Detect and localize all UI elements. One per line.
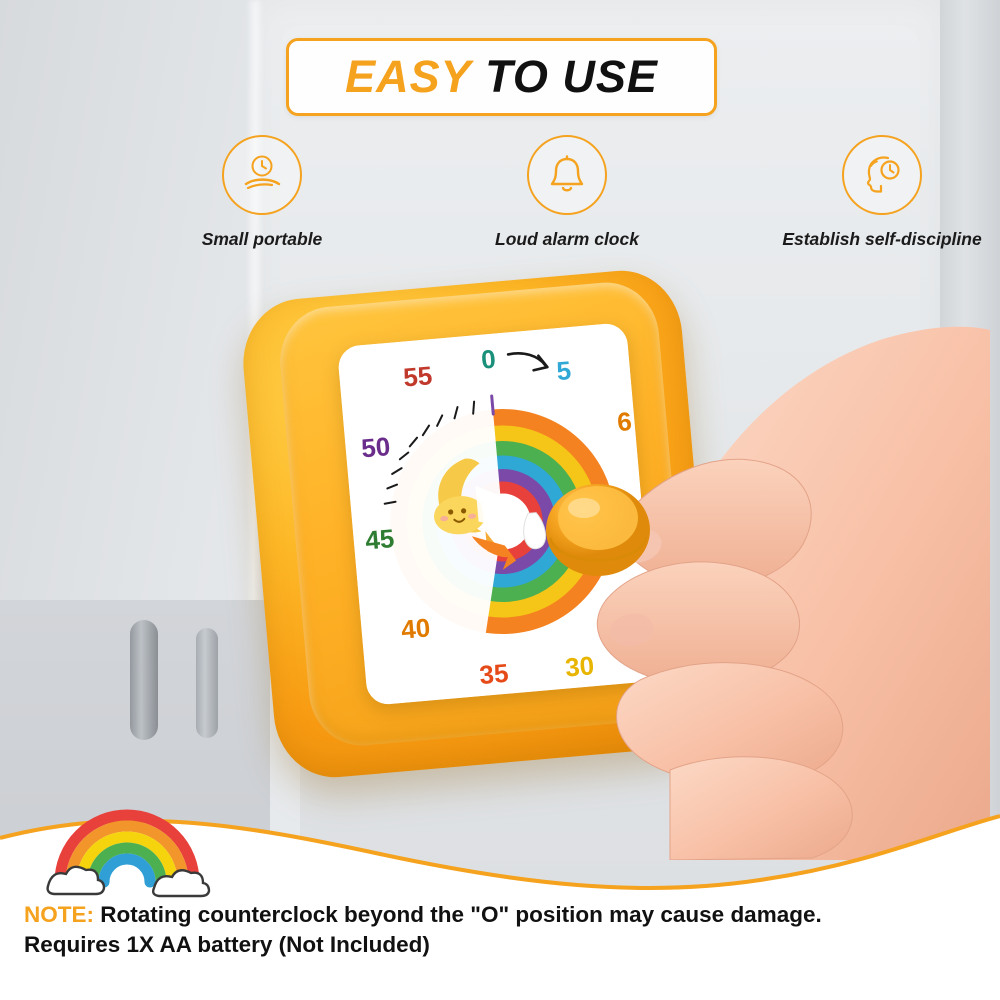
background-handle-2 [196, 628, 218, 738]
product-infographic: EASY TO USE Small portable [0, 0, 1000, 1000]
timer-knob [546, 484, 650, 576]
feature-label-2: Loud alarm clock [417, 229, 717, 250]
feature-small-portable: Small portable [112, 135, 412, 250]
dial-number-35: 35 [478, 658, 509, 690]
note-line-1-text: Rotating counterclock beyond the "O" pos… [94, 902, 822, 927]
hand-holding-knob [520, 300, 990, 860]
feature-label-3: Establish self-discipline [732, 229, 1000, 250]
dial-number-50: 50 [360, 431, 391, 463]
note-text: NOTE: Rotating counterclock beyond the "… [24, 900, 984, 959]
heading-to-use: TO USE [485, 51, 658, 102]
note-line-2: Requires 1X AA battery (Not Included) [24, 930, 984, 960]
dial-number-0: 0 [480, 344, 497, 375]
heading-text: EASY TO USE [345, 51, 658, 103]
feature-icon-circle-3 [842, 135, 922, 215]
feature-label-1: Small portable [112, 229, 412, 250]
rainbow-with-clouds [42, 790, 212, 900]
clock-on-hand-icon [238, 151, 286, 199]
bell-icon [543, 151, 591, 199]
note-keyword: NOTE: [24, 902, 94, 927]
head-profile-clock-icon [857, 150, 907, 200]
feature-icon-circle-1 [222, 135, 302, 215]
feature-row: Small portable Loud alarm clock [60, 135, 960, 270]
dial-number-45: 45 [364, 523, 395, 555]
feature-establish-self-discipline: Establish self-discipline [732, 135, 1000, 250]
background-handle-1 [130, 620, 158, 740]
feature-icon-circle-2 [527, 135, 607, 215]
dial-number-55: 55 [402, 360, 433, 392]
feature-loud-alarm-clock: Loud alarm clock [417, 135, 717, 250]
heading-easy: EASY [345, 51, 472, 102]
dial-number-40: 40 [400, 612, 431, 644]
note-line-1: NOTE: Rotating counterclock beyond the "… [24, 900, 984, 930]
heading-banner: EASY TO USE [286, 38, 717, 116]
